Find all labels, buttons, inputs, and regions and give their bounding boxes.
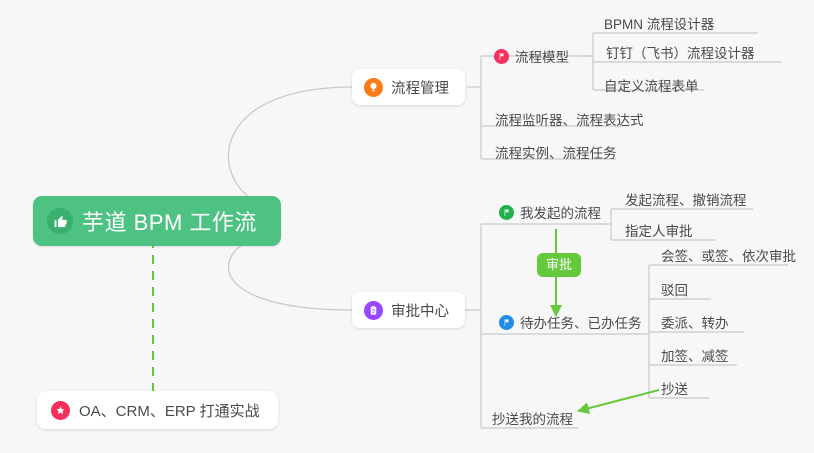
root-node[interactable]: 芋道 BPM 工作流 — [33, 196, 281, 246]
flag-icon — [494, 49, 509, 64]
topic-bpmn-designer[interactable]: BPMN 流程设计器 — [600, 10, 720, 36]
topic-label: 流程模型 — [515, 46, 569, 66]
floating-node-integration[interactable]: OA、CRM、ERP 打通实战 — [37, 391, 278, 429]
topic-label: 抄送 — [661, 378, 688, 398]
topic-label: 流程监听器、流程表达式 — [495, 109, 644, 129]
annotation-label: 审批 — [546, 257, 572, 272]
topic-label: 钉钉（飞书）流程设计器 — [606, 42, 755, 62]
topic-label: BPMN 流程设计器 — [604, 13, 714, 33]
topic-start-cancel-process[interactable]: 发起流程、撤销流程 — [621, 186, 753, 212]
mindmap-canvas: 芋道 BPM 工作流 流程管理 审批中心 流程模型 BPMN 流程设计器 钉钉（… — [0, 0, 814, 453]
topic-label: 我发起的流程 — [520, 202, 601, 222]
topic-label: 抄送我的流程 — [492, 408, 573, 428]
topic-assigned-approval[interactable]: 指定人审批 — [621, 217, 699, 243]
topic-delegate-transfer[interactable]: 委派、转办 — [657, 309, 735, 335]
flag-icon — [499, 205, 514, 220]
branch-label: 审批中心 — [391, 300, 449, 321]
topic-carbon-copy[interactable]: 抄送 — [657, 375, 694, 401]
topic-label: 自定义流程表单 — [604, 75, 699, 95]
topic-custom-form[interactable]: 自定义流程表单 — [600, 72, 705, 98]
topic-my-initiated-process[interactable]: 我发起的流程 — [495, 199, 607, 225]
topic-label: 流程实例、流程任务 — [495, 142, 617, 162]
annotation-tag-approve: 审批 — [537, 253, 581, 277]
star-icon — [51, 401, 70, 420]
topic-label: 发起流程、撤销流程 — [625, 189, 747, 209]
topic-todo-done-tasks[interactable]: 待办任务、已办任务 — [495, 309, 648, 335]
topic-label: 待办任务、已办任务 — [520, 312, 642, 332]
topic-process-model[interactable]: 流程模型 — [490, 43, 575, 69]
flag-icon — [499, 315, 514, 330]
clipboard-icon — [364, 301, 383, 320]
topic-label: 驳回 — [661, 279, 688, 299]
topic-cc-to-me-process[interactable]: 抄送我的流程 — [488, 405, 579, 431]
topic-label: 会签、或签、依次审批 — [661, 245, 796, 265]
floating-node-label: OA、CRM、ERP 打通实战 — [79, 400, 260, 421]
topic-instance-task[interactable]: 流程实例、流程任务 — [491, 139, 623, 165]
branch-node-process-management[interactable]: 流程管理 — [352, 69, 465, 105]
topic-dingtalk-designer[interactable]: 钉钉（飞书）流程设计器 — [602, 39, 761, 65]
branch-node-approval-center[interactable]: 审批中心 — [352, 292, 465, 328]
root-label: 芋道 BPM 工作流 — [82, 205, 257, 237]
topic-listener-expression[interactable]: 流程监听器、流程表达式 — [491, 106, 650, 132]
topic-reject[interactable]: 驳回 — [657, 276, 694, 302]
thumbs-up-icon — [47, 208, 73, 234]
edge-root-to-liucheng — [228, 87, 352, 208]
topic-add-remove-sign[interactable]: 加签、减签 — [657, 342, 735, 368]
arrow-cc-to-ccmine — [578, 390, 659, 411]
topic-label: 加签、减签 — [661, 345, 729, 365]
topic-countersign[interactable]: 会签、或签、依次审批 — [657, 242, 802, 268]
branch-label: 流程管理 — [391, 77, 449, 98]
lightbulb-icon — [364, 78, 383, 97]
topic-label: 指定人审批 — [625, 220, 693, 240]
topic-label: 委派、转办 — [661, 312, 729, 332]
